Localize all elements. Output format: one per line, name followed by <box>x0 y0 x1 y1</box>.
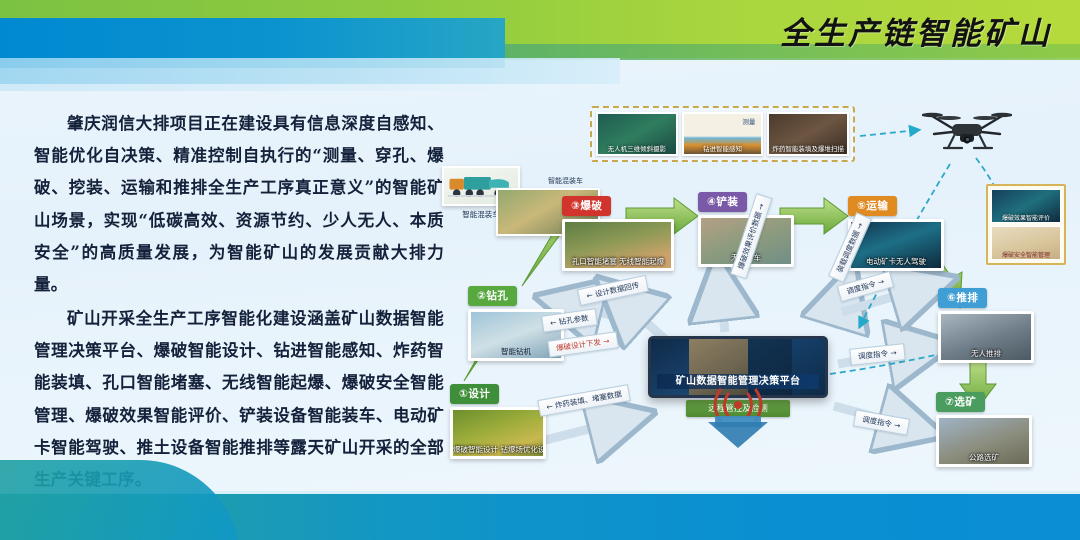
central-platform[interactable]: 矿山数据智能管理决策平台 远程管控及检测 <box>648 336 828 417</box>
data-arrow-load <box>718 268 725 332</box>
node-ore-thumb[interactable]: 公路选矿 <box>936 415 1032 467</box>
panel-item-2-caption: 钻进智能感知 <box>684 143 762 153</box>
node-design-caption: 爆破智能设计 钻爆场优化设计系统 <box>453 444 543 455</box>
node-design-thumb[interactable]: 爆破智能设计 钻爆场优化设计系统 <box>450 407 546 459</box>
side-panel-2[interactable]: 爆破安全智能管理 <box>991 226 1061 260</box>
node-load-badge: ④铲装 <box>698 192 747 212</box>
node-blast[interactable]: ③爆破 孔口智能堵塞 无线智能起爆 <box>562 196 674 271</box>
node-push-thumb[interactable]: 无人推排 <box>938 311 1034 363</box>
excavator-photo-tag: 智能混装车 <box>548 176 583 186</box>
platform-title: 矿山数据智能管理决策平台 <box>657 374 819 389</box>
node-push-caption: 无人推排 <box>941 348 1031 359</box>
node-blast-badge: ③爆破 <box>562 196 611 216</box>
evaluation-panel-group[interactable]: 爆破效果智能评价 爆破安全智能管理 <box>986 184 1066 265</box>
node-design-badge: ①设计 <box>450 384 499 404</box>
side-panel-2-caption: 爆破安全智能管理 <box>992 250 1060 259</box>
node-ore[interactable]: ⑦选矿 公路选矿 <box>936 392 1032 467</box>
panel-item-3-caption: 炸药智能装填及爆堆扫描 <box>769 143 847 153</box>
drone-icon <box>922 104 1012 156</box>
panel-group-tag: 测量 <box>742 116 755 126</box>
connector-label-3: ← 炸药装填、堵塞数据 <box>537 384 631 417</box>
connector-label-7: 调度指令 → <box>849 343 905 366</box>
node-ore-caption: 公路选矿 <box>939 452 1029 463</box>
paragraph-1: 肇庆润信大排项目正在建设具有信息深度自感知、智能优化自决策、精准控制自执行的“测… <box>34 108 444 301</box>
panel-item-1-caption: 无人机三维倾斜摄影 <box>598 143 676 153</box>
node-drill-badge: ②钻孔 <box>468 286 517 306</box>
node-push[interactable]: ⑥推排 无人推排 <box>938 288 1034 363</box>
node-ore-badge: ⑦选矿 <box>936 392 985 412</box>
measurement-panel-group[interactable]: 无人机三维倾斜摄影 测量 钻进智能感知 炸药智能装填及爆堆扫描 <box>590 106 855 162</box>
header-lightblue-band <box>0 58 620 84</box>
platform-stand <box>708 422 768 448</box>
side-panel-1[interactable]: 爆破效果智能评价 <box>991 189 1061 223</box>
process-diagram: 无人机三维倾斜摄影 测量 钻进智能感知 炸药智能装填及爆堆扫描 <box>430 96 1080 496</box>
node-haul-caption: 电动矿卡无人驾驶 <box>851 256 941 267</box>
poster-page: 全生产链智能矿山 肇庆润信大排项目正在建设具有信息深度自感知、智能优化自决策、精… <box>0 0 1080 540</box>
connector-label-0: ← 设计数据回传 <box>577 275 649 306</box>
article-text-panel: 肇庆润信大排项目正在建设具有信息深度自感知、智能优化自决策、精准控制自执行的“测… <box>34 108 444 496</box>
side-panel-1-caption: 爆破效果智能评价 <box>992 213 1060 222</box>
connector-label-8: 调度指令 → <box>853 409 910 435</box>
panel-item-2[interactable]: 测量 钻进智能感知 <box>682 112 764 156</box>
node-design[interactable]: ①设计 爆破智能设计 钻爆场优化设计系统 <box>450 384 546 459</box>
panel-item-1[interactable]: 无人机三维倾斜摄影 <box>596 112 678 156</box>
page-title: 全生产链智能矿山 <box>780 8 1052 53</box>
node-blast-caption: 孔口智能堵塞 无线智能起爆 <box>565 256 671 267</box>
dashed-link-panels-to-drone <box>860 130 918 136</box>
panel-item-3[interactable]: 炸药智能装填及爆堆扫描 <box>767 112 849 156</box>
node-blast-thumb[interactable]: 孔口智能堵塞 无线智能起爆 <box>562 219 674 271</box>
header-thin-line <box>0 84 560 91</box>
node-push-badge: ⑥推排 <box>938 288 987 308</box>
